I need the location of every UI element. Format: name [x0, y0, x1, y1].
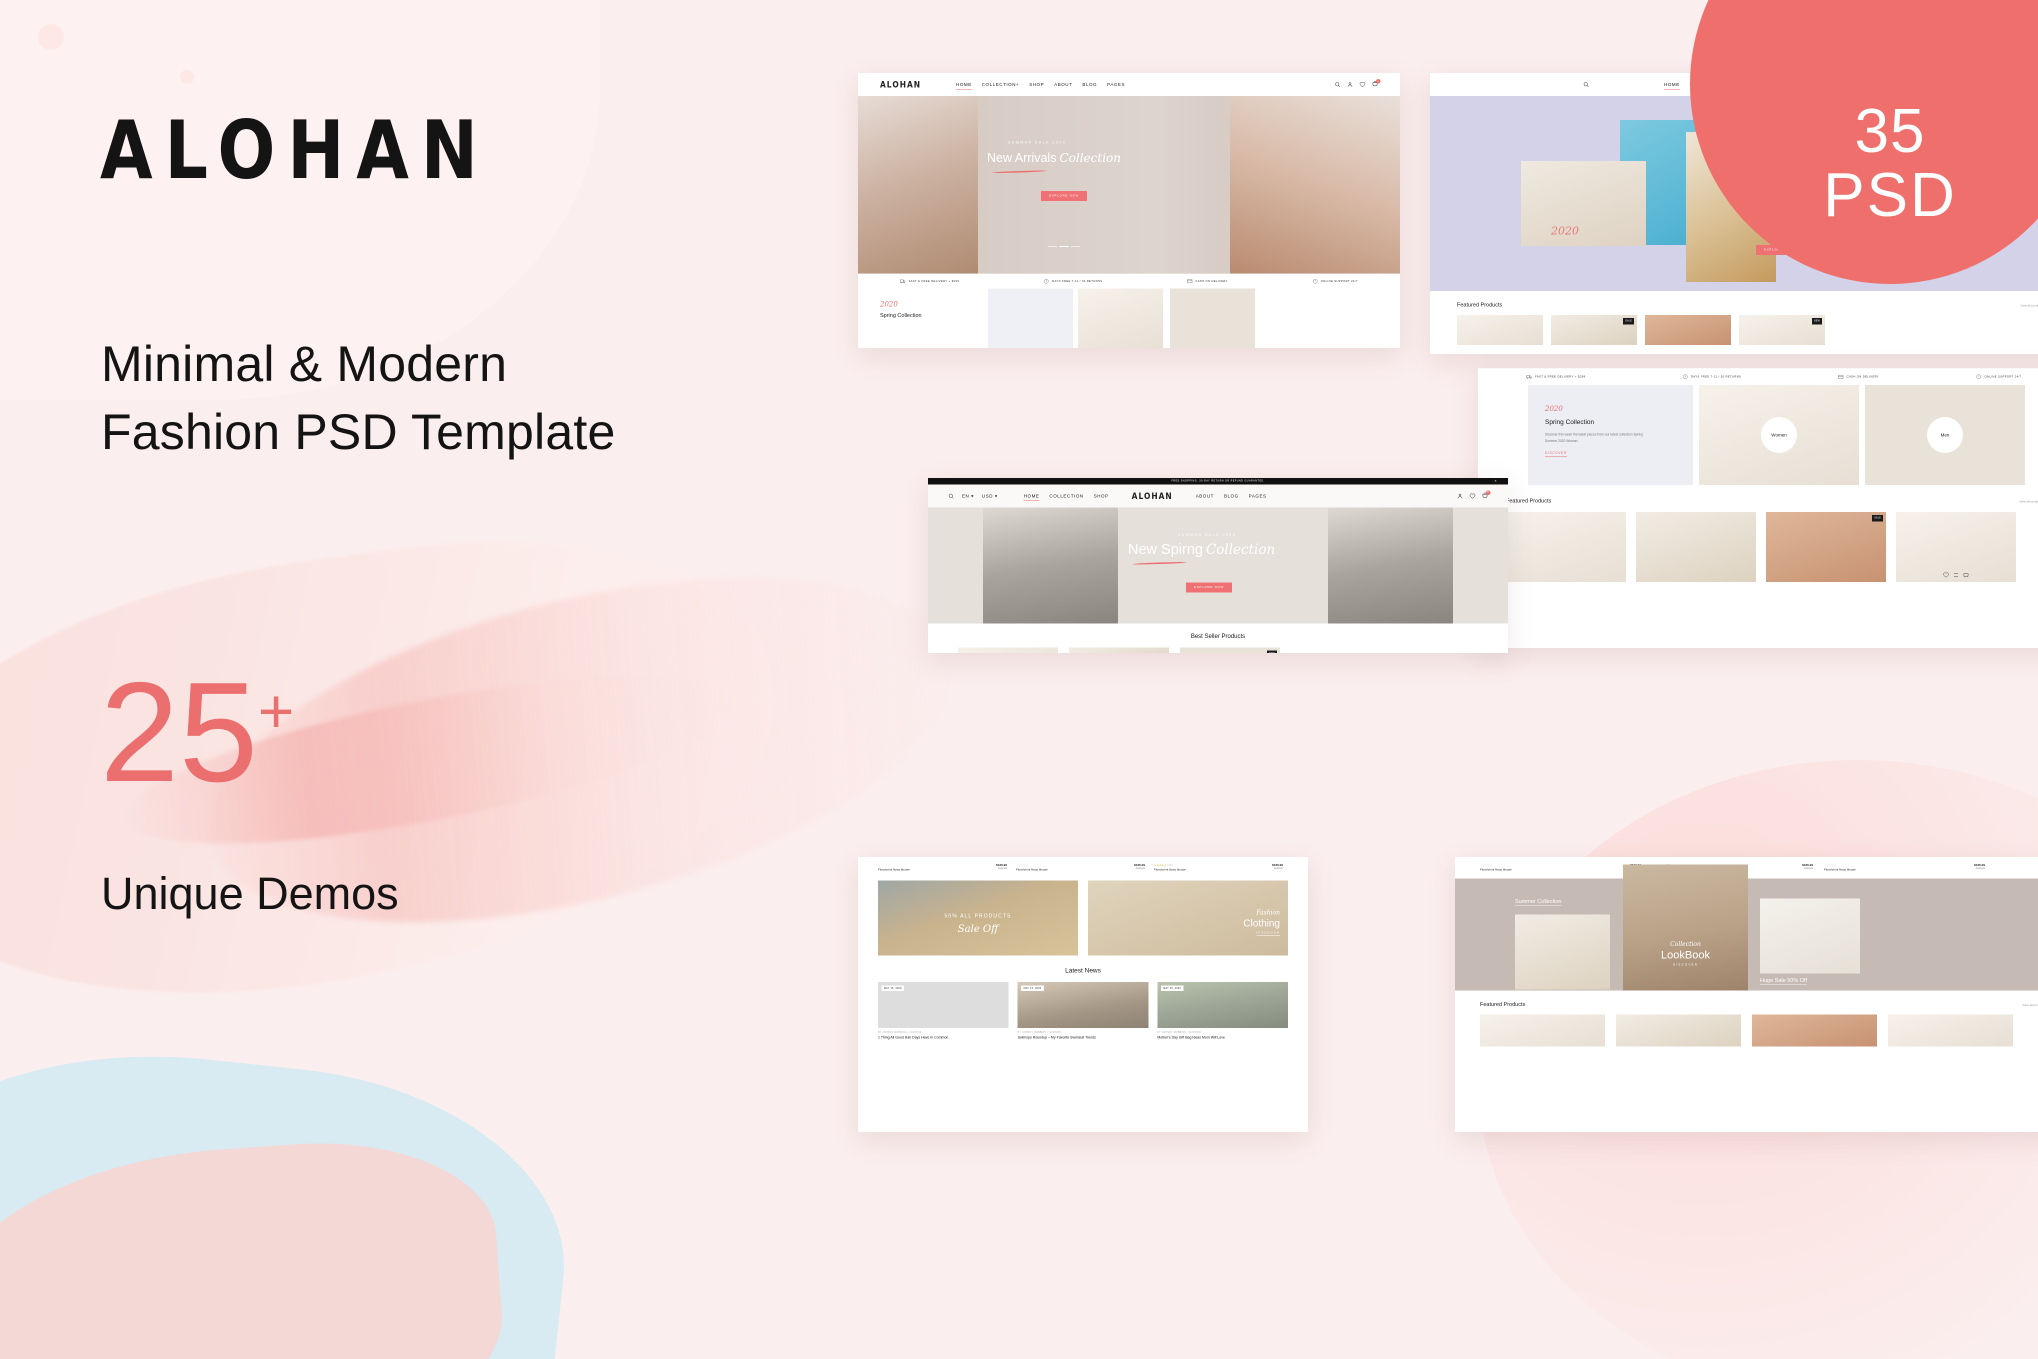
close-icon[interactable]: ×: [1495, 480, 1498, 484]
link-huge-sale[interactable]: Huge Sale 50% Off: [1760, 978, 1807, 986]
news-author: BY JOHNNY ROBBINS / FASHION: [1018, 1031, 1149, 1034]
cart-icon[interactable]: 2: [1372, 81, 1378, 88]
cart-badge: 0: [1486, 491, 1491, 496]
compare-icon: [1953, 572, 1959, 578]
banner-sale-line1: 50% ALL PRODUCTS: [878, 914, 1078, 920]
mockup-spring-split[interactable]: FAST & FREE DELIVERY + $299 DAYS FREE 7-…: [1478, 368, 2038, 648]
product-name: Floral-print flowy blouse: [1480, 869, 1595, 872]
product-rating: ☆☆☆☆☆: [1016, 864, 1106, 867]
product-price-block: $166.99 $169.99: [1778, 864, 1813, 872]
heart-icon[interactable]: [1470, 493, 1476, 499]
product-name: Floral-print flowy blouse: [878, 869, 968, 872]
nav-link-shop[interactable]: SHOP: [1029, 82, 1044, 87]
lookbook-image-earrings[interactable]: [1760, 899, 1860, 974]
news-author: BY JOHNNY ROBBINS / FASHION: [1157, 1031, 1288, 1034]
nav-link-shop[interactable]: SHOP: [1094, 494, 1109, 499]
spring-year: 2020: [880, 301, 988, 309]
promo-image-women[interactable]: Women: [1699, 385, 1859, 485]
product-card[interactable]: [1896, 512, 2016, 582]
product-old-price: $169.99: [1115, 867, 1145, 870]
featured-link[interactable]: View all products: [2019, 501, 2038, 504]
mockup4-featured-section: Featured Products View all products SALE: [1478, 485, 2038, 582]
hero-image-flatlay: [1521, 161, 1646, 246]
promo-image-men[interactable]: Men: [1865, 385, 2025, 485]
lookbook-image-model[interactable]: Collection LookBook DISCOVER: [1623, 865, 1748, 991]
hero-image-right: [1328, 508, 1453, 624]
mockup1-navbar[interactable]: ALOHAN HOME COLLECTION+ SHOP ABOUT BLOG …: [858, 73, 1400, 96]
hero-carousel-dots[interactable]: [1048, 246, 1080, 247]
product-card[interactable]: NEW: [1739, 315, 1825, 345]
product-rating: ☆☆☆☆☆: [1480, 864, 1595, 867]
feature-item: CASH ON DELIVERY: [1187, 279, 1228, 285]
spring-image-women[interactable]: [1078, 289, 1163, 349]
promo-chip-men[interactable]: Men: [1927, 417, 1963, 453]
news-image: MAY 15, 2020: [878, 982, 1009, 1028]
product-card[interactable]: ☆☆☆☆☆ Floral-print flowy blouse: [1480, 864, 1595, 872]
mockup3-hero[interactable]: SUMMER SALE 2020 New SpirngCollection EX…: [928, 508, 1508, 624]
product-tag: SALE: [1623, 318, 1634, 324]
returns-icon: [1044, 279, 1050, 285]
lookbook-script-label: Collection: [1623, 941, 1748, 948]
mockup4-promo-section: 2020 Spring Collection Discover this wee…: [1478, 385, 2038, 485]
user-icon[interactable]: [1347, 82, 1353, 88]
mockup-sale-and-news[interactable]: ☆☆☆☆☆ Floral-print flowy blouse $166.99 …: [858, 857, 1308, 1132]
product-tag: NEW: [1812, 318, 1822, 324]
product-card[interactable]: ★★★★★ (26) Floral-print flowy blouse: [1154, 864, 1244, 872]
featured-link[interactable]: View all products: [2020, 305, 2038, 308]
delivery-icon: [900, 279, 906, 285]
nav-link-home[interactable]: HOME: [956, 82, 972, 87]
decorative-dot: [180, 70, 194, 84]
product-card[interactable]: ☆☆☆☆☆ Floral-print flowy blouse: [1016, 864, 1106, 872]
hero-image-left: [858, 96, 978, 274]
mockup5-product-strip: ☆☆☆☆☆ Floral-print flowy blouse $166.99 …: [858, 857, 1308, 872]
product-quick-actions[interactable]: [1943, 572, 1969, 578]
nav-link-pages[interactable]: PAGES: [1249, 494, 1267, 499]
demo-count-label: Unique Demos: [101, 868, 399, 920]
product-price-block: $166.99 $169.99: [977, 864, 1007, 872]
news-image: MAY 15, 2020: [1157, 982, 1288, 1028]
product-price-block: $166.99 $169.99: [1115, 864, 1145, 872]
announcement-text: FREE SHOPPING, 30-DAY RETURN OR REFUND G…: [1171, 480, 1264, 483]
product-rating: ☆☆☆☆☆: [878, 864, 968, 867]
mockup2-featured-section: Featured Products View all products SALE…: [1430, 291, 2038, 345]
payment-icon: [1187, 279, 1193, 285]
mockup1-feature-bar: FAST & FREE DELIVERY + $299 DAYS FREE 7-…: [858, 274, 1400, 289]
product-card[interactable]: [1069, 648, 1169, 654]
feature-item: DAYS FREE 7-11 / 30 RETURNS: [1044, 279, 1103, 285]
hero-image-right: [1230, 96, 1400, 274]
headline-line-2: Fashion PSD Template: [101, 398, 615, 466]
lookbook-title: LookBook: [1623, 949, 1748, 962]
mockup3-bestseller-section: Best Seller Products NEW: [928, 624, 1508, 654]
product-card[interactable]: [1506, 512, 1626, 582]
brand-logo: ALOHAN: [100, 105, 490, 198]
featured-title: Featured Products: [1480, 1002, 1525, 1008]
mockup1-spring-section: 2020 Spring Collection: [858, 289, 1400, 349]
search-icon[interactable]: [948, 493, 954, 499]
delivery-icon: [1526, 374, 1532, 380]
nav-link-about[interactable]: ABOUT: [1196, 494, 1214, 499]
promo-title: Spring Collection: [1545, 418, 1693, 426]
mockup-home-new-arrivals[interactable]: ALOHAN HOME COLLECTION+ SHOP ABOUT BLOG …: [858, 73, 1400, 348]
search-icon[interactable]: [1583, 82, 1589, 88]
news-card[interactable]: MAY 15, 2020 BY JOHNNY ROBBINS / FASHION…: [878, 982, 1009, 1041]
mockup-lookbook[interactable]: ☆☆☆☆☆ Floral-print flowy blouse $166.99 …: [1455, 857, 2038, 1132]
support-icon: [1312, 279, 1318, 285]
mockup3-logo[interactable]: ALOHAN: [1132, 491, 1173, 502]
link-summer-collection[interactable]: Summer Collection: [1515, 899, 1561, 907]
demo-count: 25+: [100, 662, 294, 804]
hero-underline: [1132, 562, 1187, 565]
hero-title: New ArrivalsCollection: [987, 151, 1121, 166]
promo-chip-women[interactable]: Women: [1761, 417, 1797, 453]
banner-sale-off[interactable]: 50% ALL PRODUCTS Sale Off: [878, 881, 1078, 956]
mockup3-navbar[interactable]: EN ▾ USD ▾ HOME COLLECTION SHOP ALOHAN A…: [928, 485, 1508, 508]
nav-link-collection[interactable]: COLLECTION: [1049, 494, 1083, 499]
feature-item: FAST & FREE DELIVERY + $299: [900, 279, 959, 285]
feature-item: FAST & FREE DELIVERY + $299: [1526, 374, 1585, 380]
hero-image-left: [983, 508, 1118, 624]
product-card[interactable]: [1752, 1015, 1877, 1047]
product-card[interactable]: [1457, 315, 1543, 345]
news-author: BY JOHNNY ROBBINS / FASHION: [878, 1031, 1009, 1034]
lookbook-cta[interactable]: DISCOVER: [1623, 964, 1748, 967]
nav-link-home[interactable]: HOME: [1664, 82, 1680, 87]
product-card[interactable]: [1636, 512, 1756, 582]
heart-icon: [1943, 572, 1949, 578]
decorative-dot: [38, 24, 64, 50]
mockup1-logo[interactable]: ALOHAN: [880, 79, 921, 90]
hero-year-stamp: 2020: [1551, 225, 1579, 238]
demo-count-plus: +: [258, 678, 294, 747]
badge-count: 35: [1855, 100, 1926, 163]
promo-description: Discover this week the latest pieces fro…: [1545, 432, 1650, 445]
user-icon[interactable]: [1457, 493, 1463, 499]
banner-fashion-clothing[interactable]: Fashion Clothing DISCOVER: [1088, 881, 1288, 956]
mockup1-hero[interactable]: SUMMER SALE 2020 New ArrivalsCollection …: [858, 96, 1400, 274]
mockup5-news-section: Latest News MAY 15, 2020 BY JOHNNY ROBBI…: [858, 956, 1308, 1041]
nav-link-home[interactable]: HOME: [1024, 494, 1040, 499]
bestseller-title: Best Seller Products: [958, 633, 1478, 640]
lookbook-image-bag[interactable]: [1515, 915, 1610, 990]
mockup3-announcement-bar: FREE SHOPPING, 30-DAY RETURN OR REFUND G…: [928, 478, 1508, 485]
product-name: Floral-print flowy blouse: [1154, 869, 1244, 872]
news-section-title: Latest News: [878, 967, 1288, 975]
news-title[interactable]: 1 Thing All Good Hair Days Have In Commo…: [878, 1036, 1009, 1041]
mockup6-lookbook-section: Summer Collection Collection LookBook DI…: [1455, 879, 2038, 991]
headline-line-1: Minimal & Modern: [101, 330, 615, 398]
product-tag: SALE: [1872, 515, 1883, 521]
product-card[interactable]: [958, 648, 1058, 654]
news-card[interactable]: MAY 15, 2020 BY JOHNNY ROBBINS / FASHION…: [1018, 982, 1149, 1041]
product-card[interactable]: NEW: [1180, 648, 1280, 654]
product-price-block: $166.99 $169.99: [1253, 864, 1283, 872]
product-tag: NEW: [1267, 651, 1277, 654]
background-blob-blue: [0, 1024, 582, 1359]
hero-eyebrow: SUMMER SALE 2020: [1178, 534, 1236, 538]
nav-link-pages[interactable]: PAGES: [1107, 82, 1125, 87]
mockup-spring-home[interactable]: FREE SHOPPING, 30-DAY RETURN OR REFUND G…: [928, 478, 1508, 653]
hero-underline: [992, 170, 1047, 173]
feature-item: ONLINE SUPPORT 24/7: [1976, 374, 2021, 380]
promo-discover-link[interactable]: DISCOVER: [1545, 452, 1567, 457]
banner-fashion-line2: Clothing: [1243, 918, 1280, 930]
mockup6-featured-section: Featured Products View all products: [1455, 991, 2038, 1047]
hero-title: New SpirngCollection: [1128, 542, 1275, 559]
cart-icon: [1963, 572, 1969, 578]
feature-item: ONLINE SUPPORT 24/7: [1312, 279, 1357, 285]
hero-cta-button[interactable]: EXPLORE NOW: [1186, 583, 1232, 593]
nav-link-collection[interactable]: COLLECTION+: [982, 82, 1019, 87]
product-card[interactable]: [1480, 1015, 1605, 1047]
banner-sale-line2: Sale Off: [878, 923, 1078, 935]
hero-eyebrow: SUMMER SALE 2020: [1008, 141, 1066, 145]
banner-fashion-line1: Fashion: [1256, 909, 1280, 916]
product-card[interactable]: ☆☆☆☆☆ Floral-print flowy blouse: [878, 864, 968, 872]
product-rating: ☆☆☆☆☆: [1824, 864, 1939, 867]
product-card[interactable]: SALE: [1551, 315, 1637, 345]
returns-icon: [1682, 374, 1688, 380]
featured-title: Featured Products: [1457, 302, 1502, 308]
nav-link-blog[interactable]: BLOG: [1224, 494, 1239, 499]
feature-item: DAYS FREE 7-11 / 30 RETURNS: [1682, 374, 1741, 380]
poster-canvas: 35 PSD ALOHAN Minimal & Modern Fashion P…: [0, 0, 2038, 1359]
spring-title: Spring Collection: [880, 313, 988, 319]
spring-image-men[interactable]: [1170, 289, 1255, 349]
news-image: MAY 15, 2020: [1018, 982, 1149, 1028]
search-icon[interactable]: [1335, 82, 1341, 88]
product-card[interactable]: [1888, 1015, 2013, 1047]
news-date: MAY 15, 2020: [1161, 986, 1184, 992]
product-card[interactable]: ☆☆☆☆☆ Floral-print flowy blouse: [1824, 864, 1939, 872]
nav-link-about[interactable]: ABOUT: [1054, 82, 1072, 87]
badge-format: PSD: [1823, 163, 1956, 228]
product-old-price: $169.99: [1950, 867, 1985, 870]
featured-title: Featured Products: [1506, 498, 1551, 504]
product-name: Floral-print flowy blouse: [1824, 869, 1939, 872]
support-icon: [1976, 374, 1982, 380]
news-title[interactable]: Swimspo Roundup – My Favorite Swimsuit T…: [1018, 1036, 1149, 1041]
currency-selector[interactable]: USD ▾: [982, 493, 998, 499]
demo-count-number: 25: [100, 653, 258, 812]
feature-item: CASH ON DELIVERY: [1838, 374, 1879, 380]
background-blob-pink-bottom: [0, 1131, 510, 1359]
mockup4-feature-bar: FAST & FREE DELIVERY + $299 DAYS FREE 7-…: [1478, 368, 2038, 385]
product-old-price: $169.99: [977, 867, 1007, 870]
news-date: MAY 15, 2020: [1021, 986, 1044, 992]
product-card[interactable]: [1645, 315, 1731, 345]
product-card[interactable]: SALE: [1766, 512, 1886, 582]
language-selector[interactable]: EN ▾: [962, 493, 974, 499]
payment-icon: [1838, 374, 1844, 380]
banner-fashion-cta[interactable]: DISCOVER: [1256, 932, 1280, 937]
product-card[interactable]: [1616, 1015, 1741, 1047]
news-date: MAY 15, 2020: [882, 986, 905, 992]
product-old-price: $169.99: [1778, 867, 1813, 870]
product-old-price: $169.99: [1253, 867, 1283, 870]
cart-badge: 2: [1376, 79, 1381, 84]
promo-year: 2020: [1545, 405, 1693, 413]
news-title[interactable]: Mother's Day Gift Bag Ideas Mom Will Lov…: [1157, 1036, 1288, 1041]
nav-link-blog[interactable]: BLOG: [1082, 82, 1097, 87]
product-rating: ★★★★★ (26): [1154, 864, 1244, 867]
news-card[interactable]: MAY 15, 2020 BY JOHNNY ROBBINS / FASHION…: [1157, 982, 1288, 1041]
product-name: Floral-print flowy blouse: [1016, 869, 1106, 872]
product-price-block: $166.99 $169.99: [1950, 864, 1985, 872]
heart-icon[interactable]: [1360, 82, 1366, 88]
cart-icon[interactable]: 0: [1482, 493, 1488, 500]
page-title: Minimal & Modern Fashion PSD Template: [101, 330, 615, 466]
mockup5-banner-row: 50% ALL PRODUCTS Sale Off Fashion Clothi…: [858, 872, 1308, 956]
featured-link[interactable]: View all products: [2022, 1004, 2038, 1007]
hero-cta-button[interactable]: EXPLORE NOW: [1041, 191, 1087, 201]
